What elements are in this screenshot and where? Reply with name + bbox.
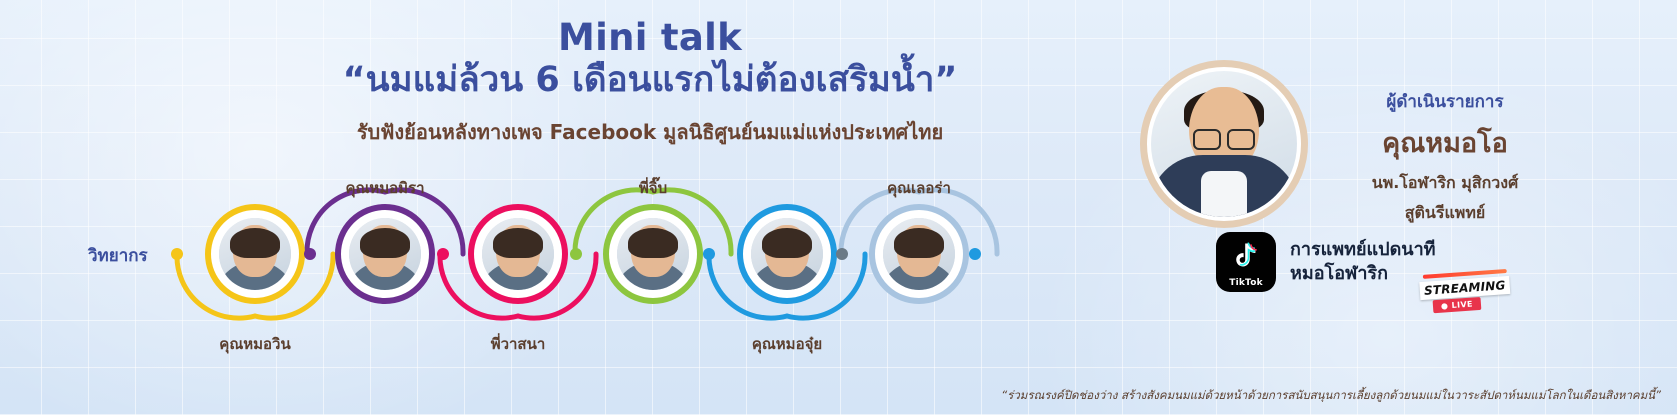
speaker-ring bbox=[869, 204, 969, 304]
speaker-photo bbox=[219, 218, 291, 290]
banner-stage: Mini talk “นมแม่ล้วน 6 เดือนแรกไม่ต้องเส… bbox=[0, 0, 1677, 415]
speaker-item[interactable]: คุณหมอวิน bbox=[205, 204, 305, 304]
speakers-row: วิทยากร คุณหมอวินคุณหมอมิราพี่วาสนาพี่จิ… bbox=[0, 176, 1060, 336]
connector-dot bbox=[570, 248, 582, 260]
connector-dot bbox=[836, 248, 848, 260]
footer-caption: “ร่วมรณรงค์ปิดช่องว่าง สร้างสังคมนมแม่ด้… bbox=[1001, 387, 1661, 405]
host-specialty: สูตินรีแพทย์ bbox=[1320, 202, 1570, 224]
speaker-photo bbox=[349, 218, 421, 290]
tiktok-icon[interactable]: TikTok bbox=[1216, 232, 1276, 292]
speaker-item[interactable]: พี่จิ๊บ bbox=[603, 204, 703, 304]
connector-dot bbox=[171, 248, 183, 260]
speaker-ring bbox=[205, 204, 305, 304]
speaker-item[interactable]: คุณเลอร่า bbox=[869, 204, 969, 304]
speaker-ring bbox=[335, 204, 435, 304]
speaker-photo bbox=[751, 218, 823, 290]
speaker-name: พี่วาสนา bbox=[423, 332, 613, 356]
speaker-photo bbox=[617, 218, 689, 290]
host-avatar bbox=[1140, 60, 1308, 228]
speaker-ring bbox=[603, 204, 703, 304]
host-info: ผู้ดำเนินรายการ คุณหมอโอ นพ.โอฬาริก มุสิ… bbox=[1320, 88, 1570, 223]
tiktok-wordmark: TikTok bbox=[1216, 278, 1276, 288]
speaker-ring bbox=[737, 204, 837, 304]
streaming-label: STREAMING bbox=[1424, 278, 1506, 298]
speaker-name: คุณหมอมิรา bbox=[290, 176, 480, 200]
streaming-badge: STREAMING ● LIVE bbox=[1419, 269, 1511, 313]
streaming-plate: STREAMING bbox=[1419, 276, 1510, 300]
host-role-label: ผู้ดำเนินรายการ bbox=[1320, 88, 1570, 115]
title-th: “นมแม่ล้วน 6 เดือนแรกไม่ต้องเสริมน้ำ” bbox=[250, 60, 1050, 100]
speaker-photo bbox=[482, 218, 554, 290]
tiktok-channel-block[interactable]: TikTok การแพทย์แปดนาที หมอโอฬาริก bbox=[1216, 232, 1436, 292]
connector-dot bbox=[969, 248, 981, 260]
speaker-name: คุณหมอจุ๋ย bbox=[692, 332, 882, 356]
speaker-item[interactable]: คุณหมอจุ๋ย bbox=[737, 204, 837, 304]
connector-dot bbox=[304, 248, 316, 260]
channel-name-line1: การแพทย์แปดนาที bbox=[1290, 238, 1436, 262]
speaker-name: พี่จิ๊บ bbox=[558, 176, 748, 200]
host-shirt bbox=[1201, 171, 1247, 217]
speaker-ring bbox=[468, 204, 568, 304]
title-en: Mini talk bbox=[250, 18, 1050, 58]
live-badge: ● LIVE bbox=[1433, 297, 1482, 313]
speaker-item[interactable]: พี่วาสนา bbox=[468, 204, 568, 304]
channel-name-line2: หมอโอฬาริก bbox=[1290, 262, 1436, 286]
tiktok-note-glyph bbox=[1229, 240, 1263, 274]
connector-dot bbox=[437, 248, 449, 260]
connector-dot bbox=[703, 248, 715, 260]
glasses-icon bbox=[1193, 129, 1255, 146]
speaker-name: คุณหมอวิน bbox=[160, 332, 350, 356]
title-block: Mini talk “นมแม่ล้วน 6 เดือนแรกไม่ต้องเส… bbox=[250, 18, 1050, 148]
host-full-name: นพ.โอฬาริก มุสิกวงศ์ bbox=[1320, 172, 1570, 194]
speaker-name: คุณเลอร่า bbox=[824, 176, 1014, 200]
host-photo-inner bbox=[1151, 71, 1297, 217]
channel-name: การแพทย์แปดนาที หมอโอฬาริก bbox=[1290, 238, 1436, 286]
subtitle-th: รับฟังย้อนหลังทางเพจ Facebook มูลนิธิศูน… bbox=[250, 116, 1050, 148]
speaker-item[interactable]: คุณหมอมิรา bbox=[335, 204, 435, 304]
speaker-photo bbox=[883, 218, 955, 290]
host-nickname: คุณหมอโอ bbox=[1320, 121, 1570, 164]
